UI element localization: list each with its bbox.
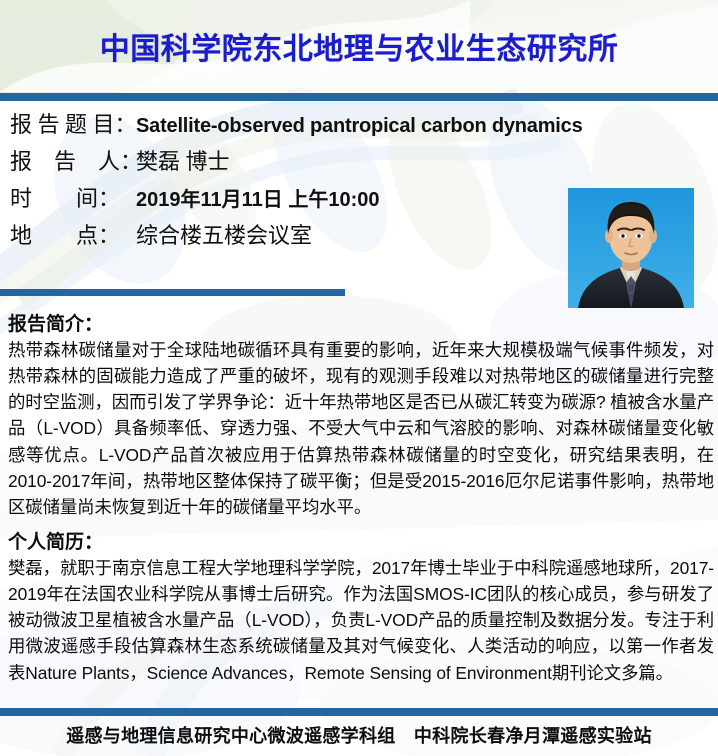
seminar-info: 报 告 题 目： Satellite-observed pantropical …	[10, 107, 570, 255]
footer-organizers: 遥感与地理信息研究中心微波遥感学科组 中科院长春净月潭遥感实验站	[66, 726, 652, 746]
info-row-title: 报 告 题 目： Satellite-observed pantropical …	[10, 107, 570, 139]
bio-heading: 个人简历：	[8, 532, 714, 554]
bio-body: 樊磊，就职于南京信息工程大学地理科学学院，2017年博士毕业于中科院遥感地球所，…	[8, 555, 714, 686]
poster-footer: 遥感与地理信息研究中心微波遥感学科组 中科院长春净月潭遥感实验站	[0, 722, 718, 748]
info-label-title: 报 告 题 目：	[10, 107, 136, 139]
info-row-time: 时 间： 2019年11月11日 上午10:00	[10, 181, 570, 213]
info-row-speaker: 报 告 人： 樊磊 博士	[10, 144, 570, 176]
divider-bottom	[0, 708, 718, 716]
abstract-section: 报告简介： 热带森林碳储量对于全球陆地碳循环具有重要的影响，近年来大规模极端气候…	[8, 314, 714, 520]
info-value-speaker: 樊磊 博士	[136, 144, 230, 176]
abstract-body: 热带森林碳储量对于全球陆地碳循环具有重要的影响，近年来大规模极端气候事件频发，对…	[8, 337, 714, 520]
speaker-portrait-photo	[568, 188, 694, 308]
info-label-speaker: 报 告 人：	[10, 144, 136, 176]
poster-header: 中国科学院东北地理与农业生态研究所	[0, 0, 718, 92]
info-value-time: 2019年11月11日 上午10:00	[136, 183, 380, 212]
info-value-title: Satellite-observed pantropical carbon dy…	[136, 115, 583, 138]
info-label-time: 时 间：	[10, 181, 136, 213]
info-label-location: 地 点：	[10, 218, 136, 250]
info-row-location: 地 点： 综合楼五楼会议室	[10, 218, 570, 250]
divider-top	[0, 93, 718, 101]
seminar-poster: 中国科学院东北地理与农业生态研究所 报 告 题 目： Satellite-obs…	[0, 0, 718, 756]
institute-title: 中国科学院东北地理与农业生态研究所	[100, 24, 619, 68]
info-value-location: 综合楼五楼会议室	[136, 218, 312, 250]
divider-middle	[0, 289, 345, 296]
abstract-heading: 报告简介：	[8, 314, 714, 336]
bio-section: 个人简历： 樊磊，就职于南京信息工程大学地理科学学院，2017年博士毕业于中科院…	[8, 532, 714, 686]
